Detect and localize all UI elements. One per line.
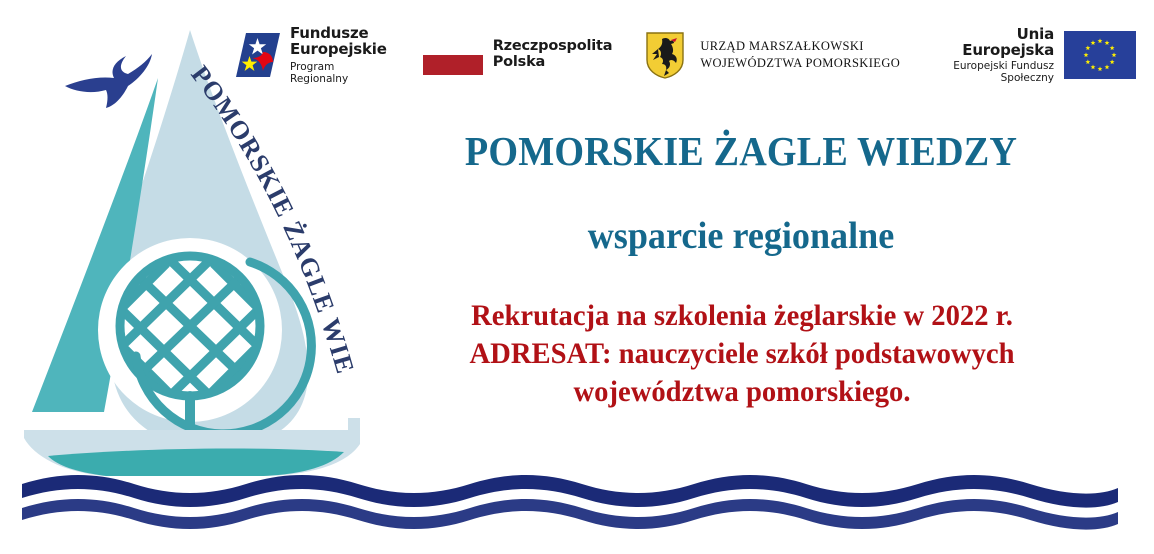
pomeranian-griffin-crest-icon — [644, 30, 686, 80]
logo-urzad-marszalkowski: URZĄD MARSZAŁKOWSKI WOJEWÓDZTWA POMORSKI… — [644, 30, 900, 80]
eu-flag-icon — [1064, 31, 1136, 79]
logo-rp-line2: Polska — [493, 54, 545, 70]
wave-divider — [0, 470, 1154, 535]
seagull-icon — [65, 54, 152, 108]
logo-um-line2: WOJEWÓDZTWA POMORSKIEGO — [700, 55, 900, 72]
heading-block: POMORSKIE ŻAGLE WIEDZY wsparcie regional… — [362, 130, 1120, 257]
logo-um-line1: URZĄD MARSZAŁKOWSKI — [700, 38, 900, 55]
logo-ue-subtitle: Europejski Fundusz Społeczny — [942, 60, 1054, 84]
logo-fe-line2: Europejskie — [290, 40, 387, 58]
logo-unia-europejska: Unia Europejska Europejski Fundusz Społe… — [942, 26, 1136, 85]
announcement-line-2: ADRESAT: nauczyciele szkół podstawowych — [377, 335, 1106, 373]
logo-fe-subtitle: Program Regionalny — [290, 61, 387, 85]
promotional-banner: POMORSKIE ŻAGLE WIEDZY Fundusze Europejs… — [0, 0, 1154, 554]
logo-fundusze-europejskie: Fundusze Europejskie Program Regionalny — [236, 25, 387, 85]
logo-rzeczpospolita-polska: Rzeczpospolita Polska — [423, 35, 613, 75]
funding-logos-strip: Fundusze Europejskie Program Regionalny … — [236, 22, 1136, 88]
announcement-line-3: województwa pomorskiego. — [377, 373, 1106, 411]
page-subtitle: wsparcie regionalne — [381, 217, 1101, 257]
page-title: POMORSKIE ŻAGLE WIEDZY — [389, 130, 1094, 173]
announcement-block: Rekrutacja na szkolenia żeglarskie w 202… — [377, 297, 1106, 411]
eu-funds-stars-icon — [236, 31, 280, 79]
announcement-line-1: Rekrutacja na szkolenia żeglarskie w 202… — [377, 297, 1106, 335]
logo-rp-line1: Rzeczpospolita — [493, 38, 613, 54]
polish-flag-icon — [423, 35, 483, 75]
logo-ue-line1: Unia Europejska — [942, 26, 1054, 58]
